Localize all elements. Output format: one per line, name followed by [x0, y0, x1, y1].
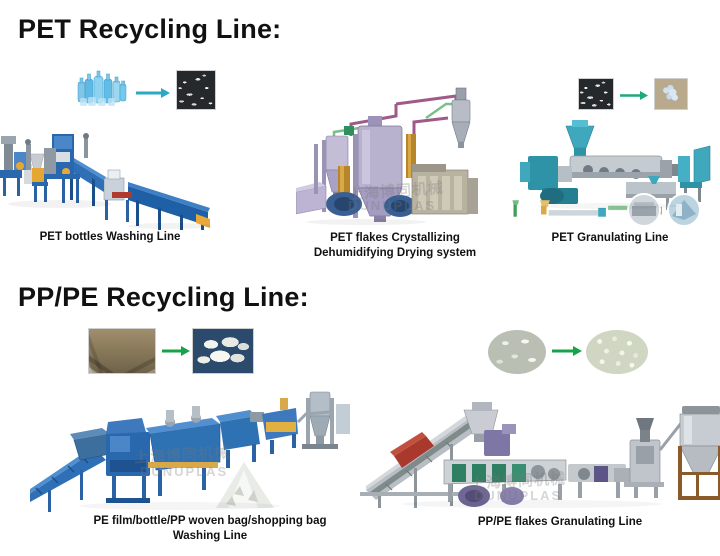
- right-arrow-icon: [136, 86, 170, 104]
- product-pet-granulating-line: [508, 74, 720, 226]
- caption-pet-flakes-crystallizing: PET flakes Crystallizing Dehumidifying D…: [290, 231, 500, 261]
- product-pet-flakes-crystallizing: 上海博同机械 DUNUPLAS: [296, 74, 496, 226]
- product-pe-pp-washing-line: 上海博同机械 DUNUPLAS: [30, 326, 360, 512]
- sample-washed-pe-flakes: [192, 328, 254, 374]
- product-pppe-granulating-line: 上海博同机械 DUNUPLAS: [352, 322, 720, 512]
- caption-pet-bottles-washing-line: PET bottles Washing Line: [10, 230, 210, 245]
- sample-pp-woven-bags: [88, 328, 156, 374]
- caption-pet-granulating-line: PET Granulating Line: [510, 231, 710, 246]
- right-arrow-icon: [162, 344, 190, 362]
- sample-pet-bottles: [76, 68, 128, 112]
- caption-pe-pp-washing-line: PE film/bottle/PP woven bag/shopping bag…: [50, 514, 370, 544]
- sample-pet-flakes-input: [578, 78, 614, 110]
- right-arrow-icon: [552, 344, 582, 362]
- illustration-pet-washing-machine: [0, 108, 250, 230]
- illustration-pet-granulating-machine: [508, 110, 720, 228]
- illustration-pppe-granulating-machine: [352, 388, 720, 510]
- sample-pet-pellets-output: [654, 78, 688, 110]
- illustration-pe-pp-washing-machine: [30, 378, 360, 512]
- section-title-pet: PET Recycling Line:: [18, 14, 281, 45]
- right-arrow-icon: [620, 88, 648, 106]
- sample-pppe-flakes-input: [488, 330, 546, 374]
- caption-pppe-granulating-line: PP/PE flakes Granulating Line: [440, 515, 680, 530]
- sample-pet-flakes: [176, 70, 216, 110]
- recycling-line-poster: PET Recycling Line:: [0, 0, 720, 556]
- sample-pppe-pellets-output: [586, 330, 648, 374]
- illustration-crystallizing-system: [296, 74, 496, 226]
- product-pet-bottles-washing-line: [0, 62, 250, 230]
- section-title-pppe: PP/PE Recycling Line:: [18, 282, 309, 313]
